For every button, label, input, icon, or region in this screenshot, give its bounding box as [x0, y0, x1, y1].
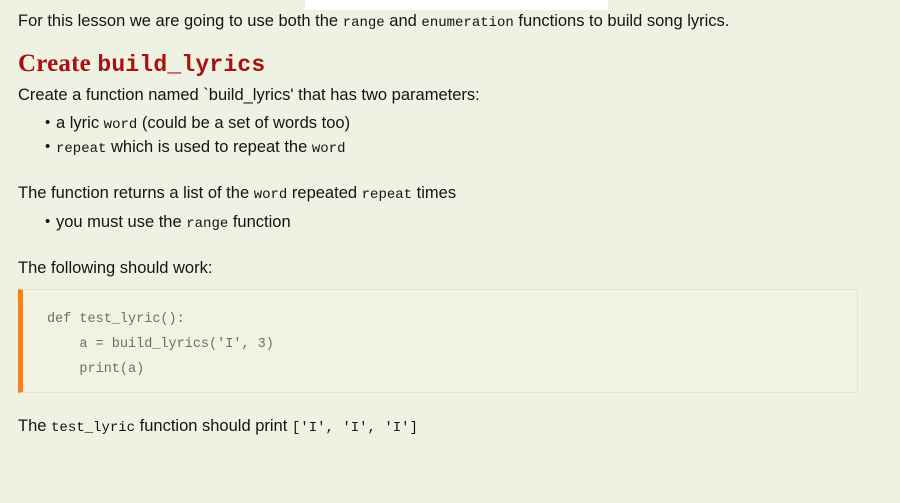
- returns-paragraph: The function returns a list of the word …: [0, 182, 900, 205]
- inline-code-range-2: range: [186, 216, 228, 232]
- requirements-list: you must use the range function: [0, 211, 900, 235]
- section-heading: Create build_lyrics: [0, 50, 900, 78]
- param-1-prefix: a lyric: [56, 114, 104, 132]
- parameters-list: a lyric word (could be a set of words to…: [0, 112, 900, 160]
- spacer: [0, 279, 900, 289]
- inline-code-word-3: word: [254, 187, 288, 203]
- intro-text-between: and: [385, 12, 422, 30]
- inline-code-repeat-2: repeat: [362, 187, 412, 203]
- inline-code-enumeration: enumeration: [421, 15, 513, 31]
- example-lead-in: The following should work:: [0, 257, 900, 279]
- intro-text-before: For this lesson we are going to use both…: [18, 12, 343, 30]
- closing-prefix: The: [18, 417, 51, 435]
- inline-code-word: word: [104, 117, 138, 133]
- closing-paragraph: The test_lyric function should print ['I…: [0, 415, 900, 438]
- list-item: repeat which is used to repeat the word: [56, 136, 900, 160]
- inline-code-word-2: word: [312, 141, 346, 157]
- list-item: a lyric word (could be a set of words to…: [56, 112, 900, 136]
- param-1-suffix: (could be a set of words too): [137, 114, 350, 132]
- closing-middle: function should print: [135, 417, 292, 435]
- intro-paragraph: For this lesson we are going to use both…: [0, 0, 900, 33]
- inline-code-range: range: [343, 15, 385, 31]
- spacer: [0, 393, 900, 415]
- lesson-content: For this lesson we are going to use both…: [0, 0, 900, 438]
- description-paragraph: Create a function named `build_lyrics' t…: [0, 84, 900, 106]
- inline-code-repeat: repeat: [56, 141, 106, 157]
- list-item: you must use the range function: [56, 211, 900, 235]
- inline-code-test-lyric: test_lyric: [51, 420, 135, 436]
- spacer: [0, 235, 900, 257]
- requirement-1-prefix: you must use the: [56, 213, 186, 231]
- requirement-1-suffix: function: [228, 213, 290, 231]
- code-block: def test_lyric(): a = build_lyrics('I', …: [18, 289, 858, 393]
- returns-middle: repeated: [287, 184, 361, 202]
- returns-prefix: The function returns a list of the: [18, 184, 254, 202]
- section-heading-word: Create: [18, 50, 91, 77]
- spacer: [0, 160, 900, 182]
- param-2-suffix: which is used to repeat the: [106, 138, 311, 156]
- intro-text-after: functions to build song lyrics.: [514, 12, 730, 30]
- section-heading-code: build_lyrics: [97, 52, 265, 78]
- code-block-text: def test_lyric(): a = build_lyrics('I', …: [23, 308, 857, 383]
- inline-code-expected-output: ['I', 'I', 'I']: [292, 420, 418, 436]
- returns-suffix: times: [412, 184, 456, 202]
